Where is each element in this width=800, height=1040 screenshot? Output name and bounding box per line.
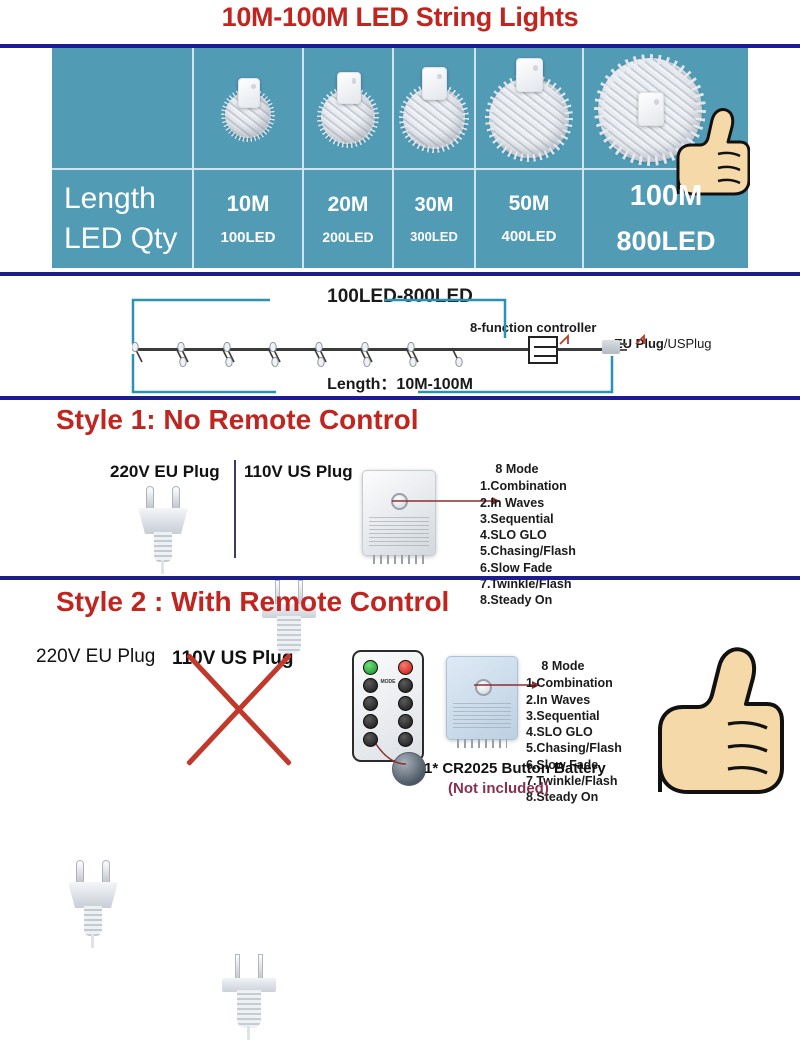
- plug-blade: [258, 954, 263, 980]
- battery-label: 1* CR2025 Button Battery: [424, 760, 606, 777]
- qty-value: 300LED: [410, 230, 458, 244]
- mode-item: 5.Chasing/Flash: [480, 543, 576, 559]
- mode-item: 5.Chasing/Flash: [526, 740, 622, 756]
- plug-divider-style1: [234, 460, 236, 558]
- spec-cell-100m: 100M 800LED: [584, 170, 748, 268]
- mode-item: 2.In Waves: [480, 495, 576, 511]
- plug-cord: [161, 560, 164, 574]
- us-plug-crossed-out-icon: [164, 642, 314, 772]
- battery-note: (Not included): [448, 780, 549, 797]
- plug-label-us: /USPlug: [664, 336, 712, 351]
- eu-plug-image-style2: [62, 856, 124, 948]
- controller-legs: [457, 739, 507, 748]
- style1-eu-plug-label: 220V EU Plug: [110, 462, 220, 482]
- mode-item: 3.Sequential: [480, 511, 576, 527]
- remote-button-5[interactable]: [363, 714, 378, 729]
- controller-box-style1: [362, 470, 436, 556]
- eu-plug-image-style1: [132, 482, 194, 574]
- table-row-bundles: [52, 48, 748, 170]
- mode-item: 3.Sequential: [526, 708, 622, 724]
- bundle-cell-20m: [304, 48, 394, 168]
- row-label-led-qty: LED Qty: [52, 222, 192, 257]
- pointer-marks: [556, 330, 666, 356]
- style1-heading: Style 1: No Remote Control: [56, 404, 418, 436]
- controller-box-style2: [446, 656, 518, 740]
- style1-us-plug-label: 110V US Plug: [244, 462, 353, 482]
- qty-value: 200LED: [322, 230, 373, 245]
- bundle-cell-empty: [52, 48, 194, 168]
- remote-power-on-button[interactable]: [363, 660, 378, 675]
- battery-leader-line: [370, 742, 410, 776]
- divider-style1: [0, 396, 800, 400]
- style1-mode-list: 8 Mode 1.Combination 2.In Waves 3.Sequen…: [480, 461, 576, 608]
- qty-value: 400LED: [501, 229, 556, 246]
- remote-button-2[interactable]: [398, 678, 413, 693]
- mode-item: 6.Slow Fade: [480, 560, 576, 576]
- light-bundle-icon: [400, 67, 468, 149]
- plug-body: [138, 508, 188, 534]
- bundle-cell-50m: [476, 48, 584, 168]
- style1-modes-title: 8 Mode: [480, 461, 576, 477]
- spec-cell-20m: 20M 200LED: [304, 170, 394, 268]
- plug-blade: [235, 954, 240, 980]
- controller-ridges: [369, 517, 430, 547]
- mode-item: 1.Combination: [526, 675, 622, 691]
- light-bundle-icon: [317, 72, 379, 144]
- thumbs-up-icon-style2: [636, 644, 784, 796]
- mode-item: 4.SLO GLO: [480, 527, 576, 543]
- length-value: 30M: [415, 194, 454, 216]
- inline-controller-box-icon: [528, 336, 558, 364]
- style2-heading: Style 2 : With Remote Control: [56, 586, 449, 618]
- row-label-cell: Length LED Qty: [52, 170, 194, 268]
- mode-item: 8.Steady On: [480, 592, 576, 608]
- plug-body: [68, 882, 118, 908]
- arrow-right-icon: [534, 355, 556, 357]
- divider-style2: [0, 576, 800, 580]
- length-value: 50M: [509, 192, 550, 215]
- length-value: 20M: [328, 193, 369, 216]
- remote-button-4[interactable]: [398, 696, 413, 711]
- mode-item: 4.SLO GLO: [526, 724, 622, 740]
- spec-table: Length LED Qty 10M 100LED 20M 200LED 30M…: [52, 48, 748, 268]
- light-bundle-icon: [486, 58, 572, 158]
- page-title: 10M-100M LED String Lights: [0, 2, 800, 33]
- spec-cell-10m: 10M 100LED: [194, 170, 304, 268]
- us-plug-image-style2: [218, 948, 280, 1040]
- mode-item: 1.Combination: [480, 478, 576, 494]
- spec-cell-50m: 50M 400LED: [476, 170, 584, 268]
- plug-stem: [154, 532, 172, 562]
- length-value: 10M: [227, 192, 270, 216]
- arrow-left-icon: [534, 346, 556, 348]
- plug-cord: [247, 1026, 250, 1040]
- light-bundle-icon: [220, 78, 276, 138]
- qty-value: 800LED: [616, 227, 715, 257]
- plug-stem: [237, 990, 261, 1028]
- wiring-diagram: 100LED-800LED Length：10M-100M 8-function…: [0, 276, 800, 396]
- table-row-values: Length LED Qty 10M 100LED 20M 200LED 30M…: [52, 170, 748, 268]
- style2-eu-plug-label: 220V EU Plug: [36, 646, 155, 668]
- plug-stem: [84, 906, 102, 936]
- bundle-cell-30m: [394, 48, 476, 168]
- mode-item: 2.In Waves: [526, 692, 622, 708]
- bundle-cell-10m: [194, 48, 304, 168]
- style2-modes-title: 8 Mode: [526, 658, 622, 674]
- bundle-cell-100m: [584, 48, 748, 168]
- remote-power-off-button[interactable]: [398, 660, 413, 675]
- remote-button-1[interactable]: [363, 678, 378, 693]
- remote-button-3[interactable]: [363, 696, 378, 711]
- qty-value: 100LED: [220, 230, 275, 247]
- controller-legs: [373, 555, 425, 564]
- remote-button-6[interactable]: [398, 714, 413, 729]
- row-label-length: Length: [52, 182, 192, 217]
- spec-cell-30m: 30M 300LED: [394, 170, 476, 268]
- led-bulbs: [132, 328, 532, 374]
- length-value: 100M: [630, 181, 703, 213]
- controller-ridges: [453, 703, 512, 731]
- plug-cord: [91, 934, 94, 948]
